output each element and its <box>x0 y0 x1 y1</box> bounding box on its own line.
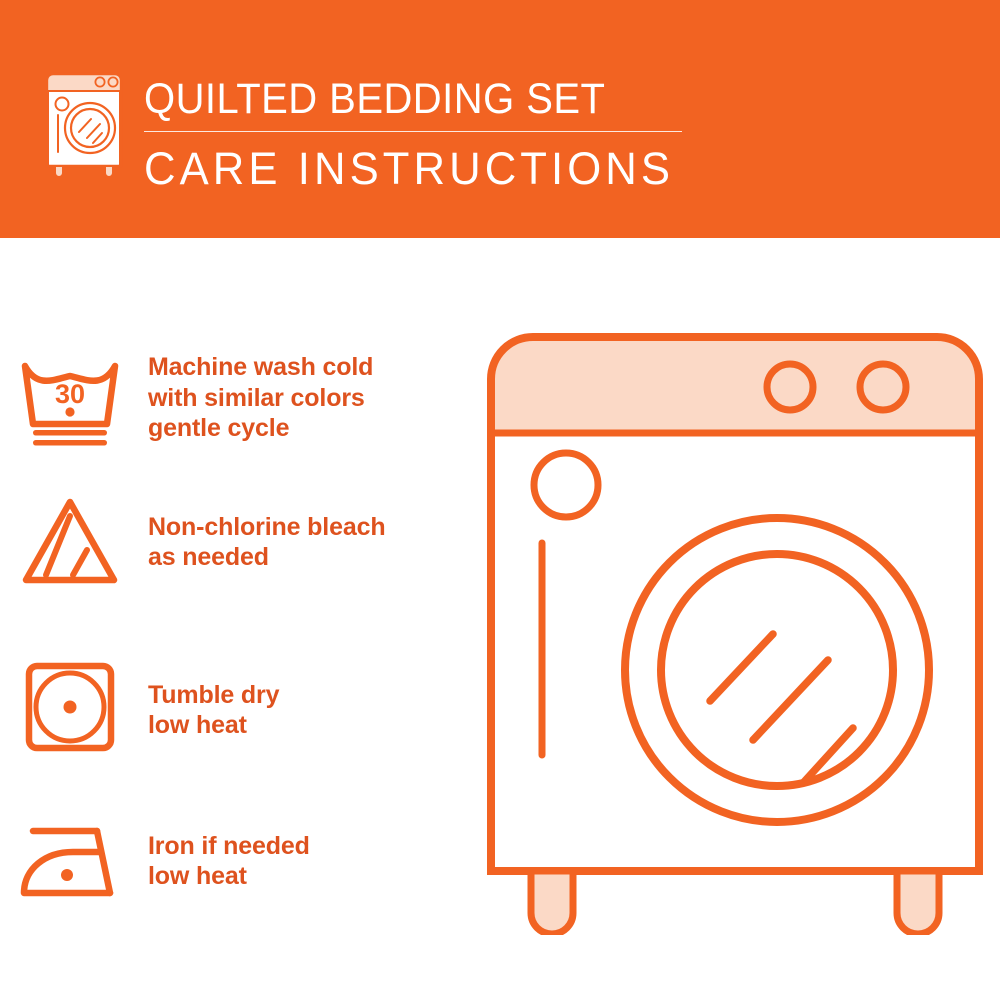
page-subtitle: CARE INSTRUCTIONS <box>144 142 687 196</box>
care-item-bleach-text: Non-chlorine bleach as needed <box>140 512 490 573</box>
care-item-iron-text: Iron if needed low heat <box>140 831 490 892</box>
care-instructions-infographic: QUILTED BEDDING SET CARE INSTRUCTIONS 30 <box>0 0 1000 1000</box>
care-line: with similar colors <box>148 383 490 414</box>
wash-temperature-label: 30 <box>55 379 85 409</box>
care-line: low heat <box>148 861 490 892</box>
care-item-iron: Iron if needed low heat <box>0 811 490 911</box>
care-instruction-list: 30 Machine wash cold with similar colors… <box>0 238 490 1000</box>
care-line: Iron if needed <box>148 831 490 862</box>
care-line: as needed <box>148 542 490 573</box>
care-item-tumble-dry: Tumble dry low heat <box>0 660 490 760</box>
care-item-tumble-dry-text: Tumble dry low heat <box>140 680 490 741</box>
header-text-block: QUILTED BEDDING SET CARE INSTRUCTIONS <box>144 74 704 196</box>
care-line: low heat <box>148 710 490 741</box>
title-divider <box>144 131 682 132</box>
care-line: Non-chlorine bleach <box>148 512 490 543</box>
non-chlorine-bleach-triangle-icon <box>0 492 140 592</box>
page-title: QUILTED BEDDING SET <box>144 74 665 124</box>
wash-tub-30-gentle-icon: 30 <box>0 348 140 448</box>
care-line: Tumble dry <box>148 680 490 711</box>
header-banner: QUILTED BEDDING SET CARE INSTRUCTIONS <box>0 0 1000 238</box>
washing-machine-illustration <box>485 325 985 935</box>
care-item-bleach: Non-chlorine bleach as needed <box>0 492 490 592</box>
iron-low-heat-icon <box>0 811 140 911</box>
care-line: Machine wash cold <box>148 352 490 383</box>
care-item-wash-text: Machine wash cold with similar colors ge… <box>140 352 490 444</box>
washing-machine-icon <box>45 72 127 176</box>
care-item-wash: 30 Machine wash cold with similar colors… <box>0 348 490 448</box>
care-line: gentle cycle <box>148 413 490 444</box>
tumble-dry-low-heat-icon <box>0 660 140 760</box>
